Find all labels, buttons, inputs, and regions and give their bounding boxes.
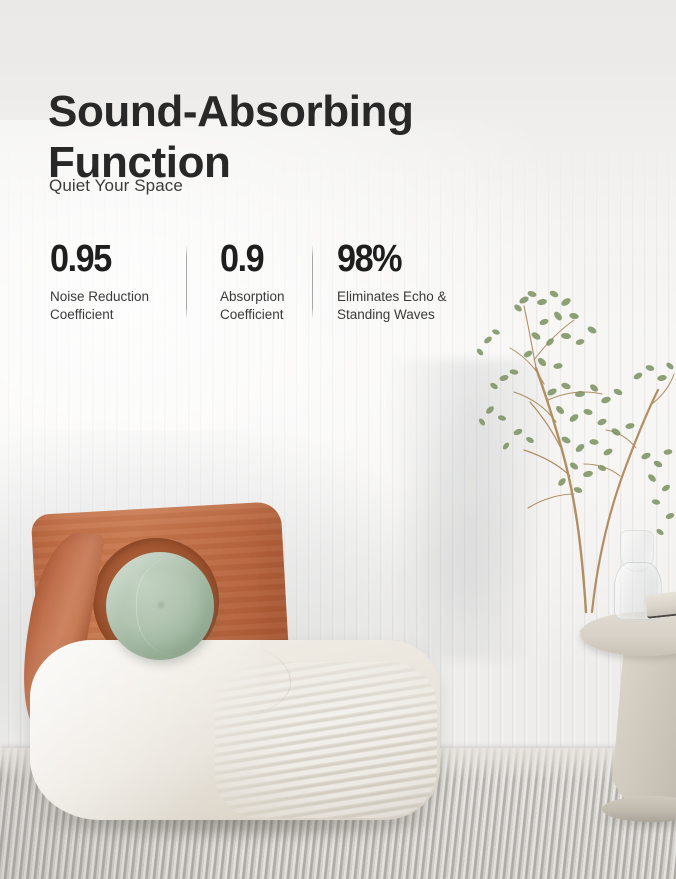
stat-label: Eliminates Echo & Standing Waves [337, 288, 487, 324]
pedestal-side-table [580, 600, 676, 840]
stat-eliminates-echo: 98% Eliminates Echo & Standing Waves [337, 240, 487, 324]
stat-value: 0.95 [50, 240, 167, 278]
round-sage-cushion [106, 552, 214, 660]
stat-absorption-coefficient: 0.9 Absorption Coefficient [220, 240, 320, 324]
stat-value: 0.9 [220, 240, 310, 278]
table-stem [610, 650, 676, 810]
stat-divider [312, 245, 313, 319]
stat-value: 98% [337, 240, 472, 278]
stat-label: Absorption Coefficient [220, 288, 320, 324]
table-tray [645, 589, 676, 619]
stats-row: 0.95 Noise Reduction Coefficient 0.9 Abs… [48, 240, 518, 330]
stat-divider [186, 245, 187, 319]
cushion-tuft [156, 600, 166, 610]
page-title: Sound-Absorbing Function [48, 87, 468, 187]
stat-noise-reduction-coefficient: 0.95 Noise Reduction Coefficient [50, 240, 180, 324]
page-subtitle: Quiet Your Space [49, 176, 183, 196]
cushion-seam [136, 556, 209, 656]
chair-seat [30, 640, 440, 820]
stat-label: Noise Reduction Coefficient [50, 288, 180, 324]
product-feature-poster: Sound-Absorbing Function Quiet Your Spac… [0, 0, 676, 879]
